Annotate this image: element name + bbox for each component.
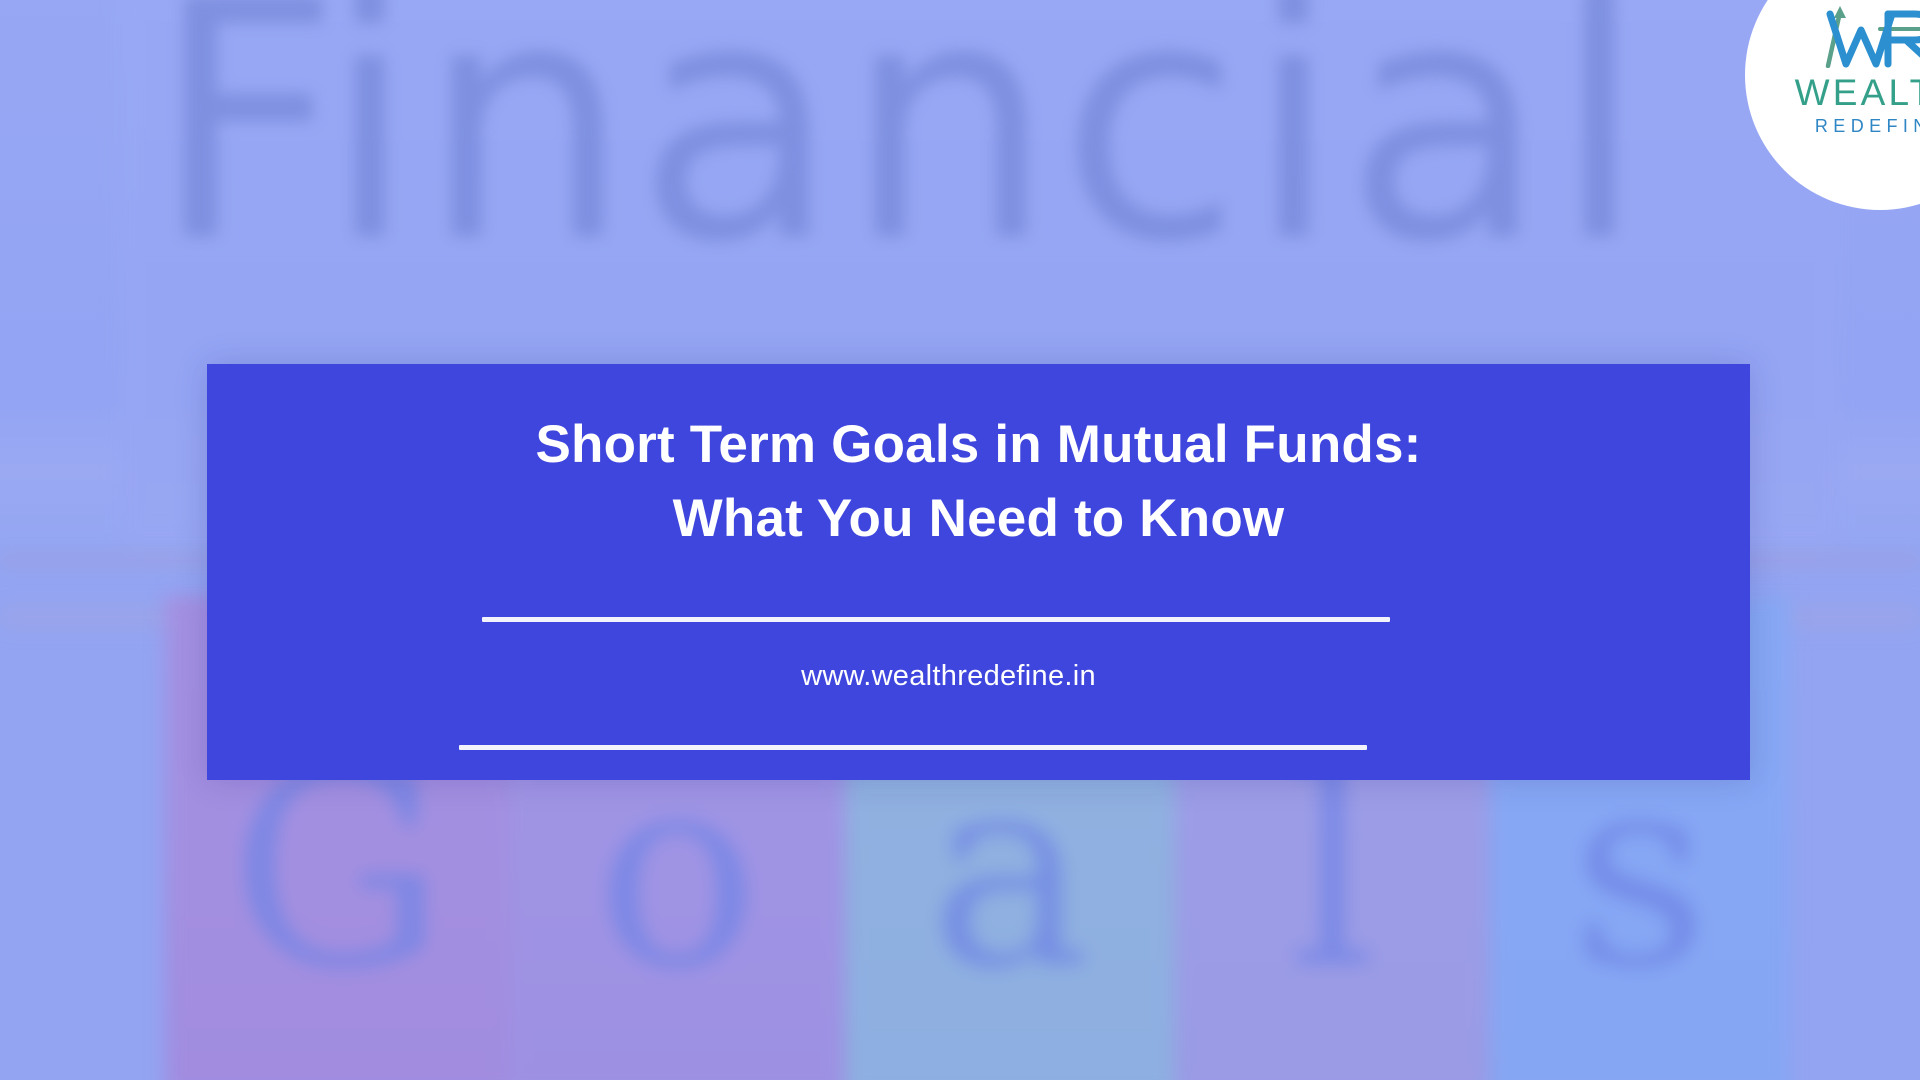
brand-logo-content: WEALTH REDEFINE (1745, 0, 1920, 200)
handwritten-financial-text: Financial (152, 0, 1651, 314)
title-line-1: Short Term Goals in Mutual Funds: (207, 408, 1750, 482)
website-url[interactable]: www.wealthredefine.in (207, 660, 1750, 693)
slide-canvas: Financial G o a l s (0, 0, 1920, 1080)
divider-bottom (459, 745, 1367, 750)
logo-wordmark-wealth: WEALTH (1795, 74, 1920, 111)
title-block: Short Term Goals in Mutual Funds: What Y… (207, 408, 1750, 556)
logo-wordmark-redefine: REDEFINE (1811, 117, 1920, 135)
wr-monogram-icon (1806, 2, 1920, 68)
divider-top (482, 617, 1390, 622)
title-line-2: What You Need to Know (207, 482, 1750, 556)
title-card: Short Term Goals in Mutual Funds: What Y… (207, 364, 1750, 780)
brand-logo-badge: WEALTH REDEFINE (1745, 0, 1920, 210)
